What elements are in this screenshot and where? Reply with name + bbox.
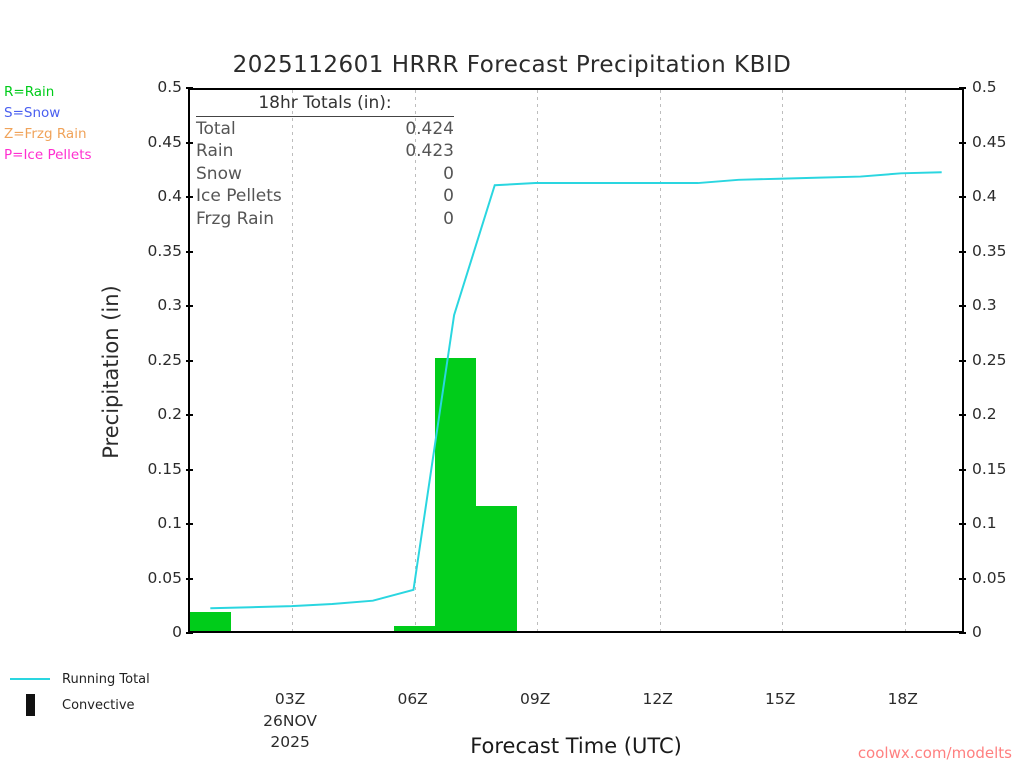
y-tick-mark bbox=[186, 196, 193, 198]
y-tick-mark bbox=[186, 305, 193, 307]
y-tick-mark bbox=[959, 142, 966, 144]
date-stamp-day: 26NOV bbox=[263, 711, 317, 732]
legend-running-total: Running Total bbox=[10, 666, 150, 692]
y-tick-mark bbox=[959, 632, 966, 634]
y-tick-mark bbox=[959, 87, 966, 89]
y-tick-mark bbox=[959, 469, 966, 471]
y-tick-mark bbox=[186, 142, 193, 144]
legend-label: Running Total bbox=[62, 672, 150, 687]
y-tick-mark bbox=[186, 469, 193, 471]
x-tick-label: 06Z bbox=[397, 690, 427, 708]
x-axis-ticks: 03Z06Z09Z12Z15Z18Z bbox=[0, 0, 1024, 768]
y-tick-mark bbox=[959, 578, 966, 580]
y-tick-mark bbox=[186, 87, 193, 89]
chart-canvas: 2025112601 HRRR Forecast Precipitation K… bbox=[0, 0, 1024, 768]
bar-swatch-icon bbox=[26, 694, 35, 716]
y-tick-mark bbox=[186, 360, 193, 362]
y-tick-mark bbox=[186, 578, 193, 580]
y-tick-mark bbox=[959, 196, 966, 198]
y-tick-mark bbox=[186, 523, 193, 525]
watermark: coolwx.com/modelts bbox=[858, 744, 1012, 762]
legend-convective: Convective bbox=[10, 692, 150, 718]
y-tick-mark bbox=[186, 414, 193, 416]
y-tick-mark bbox=[959, 305, 966, 307]
x-tick-label: 12Z bbox=[643, 690, 673, 708]
legend-label: Convective bbox=[62, 698, 135, 713]
series-legend: Running Total Convective bbox=[10, 666, 150, 718]
line-swatch-icon bbox=[10, 678, 50, 680]
y-tick-mark bbox=[959, 360, 966, 362]
x-tick-label: 15Z bbox=[765, 690, 795, 708]
x-axis-title: Forecast Time (UTC) bbox=[188, 734, 964, 758]
x-tick-label: 09Z bbox=[520, 690, 550, 708]
y-tick-mark bbox=[186, 632, 193, 634]
y-tick-mark bbox=[959, 523, 966, 525]
x-tick-label: 03Z bbox=[275, 690, 305, 708]
y-tick-mark bbox=[959, 251, 966, 253]
x-tick-label: 18Z bbox=[888, 690, 918, 708]
y-tick-mark bbox=[959, 414, 966, 416]
y-tick-mark bbox=[186, 251, 193, 253]
